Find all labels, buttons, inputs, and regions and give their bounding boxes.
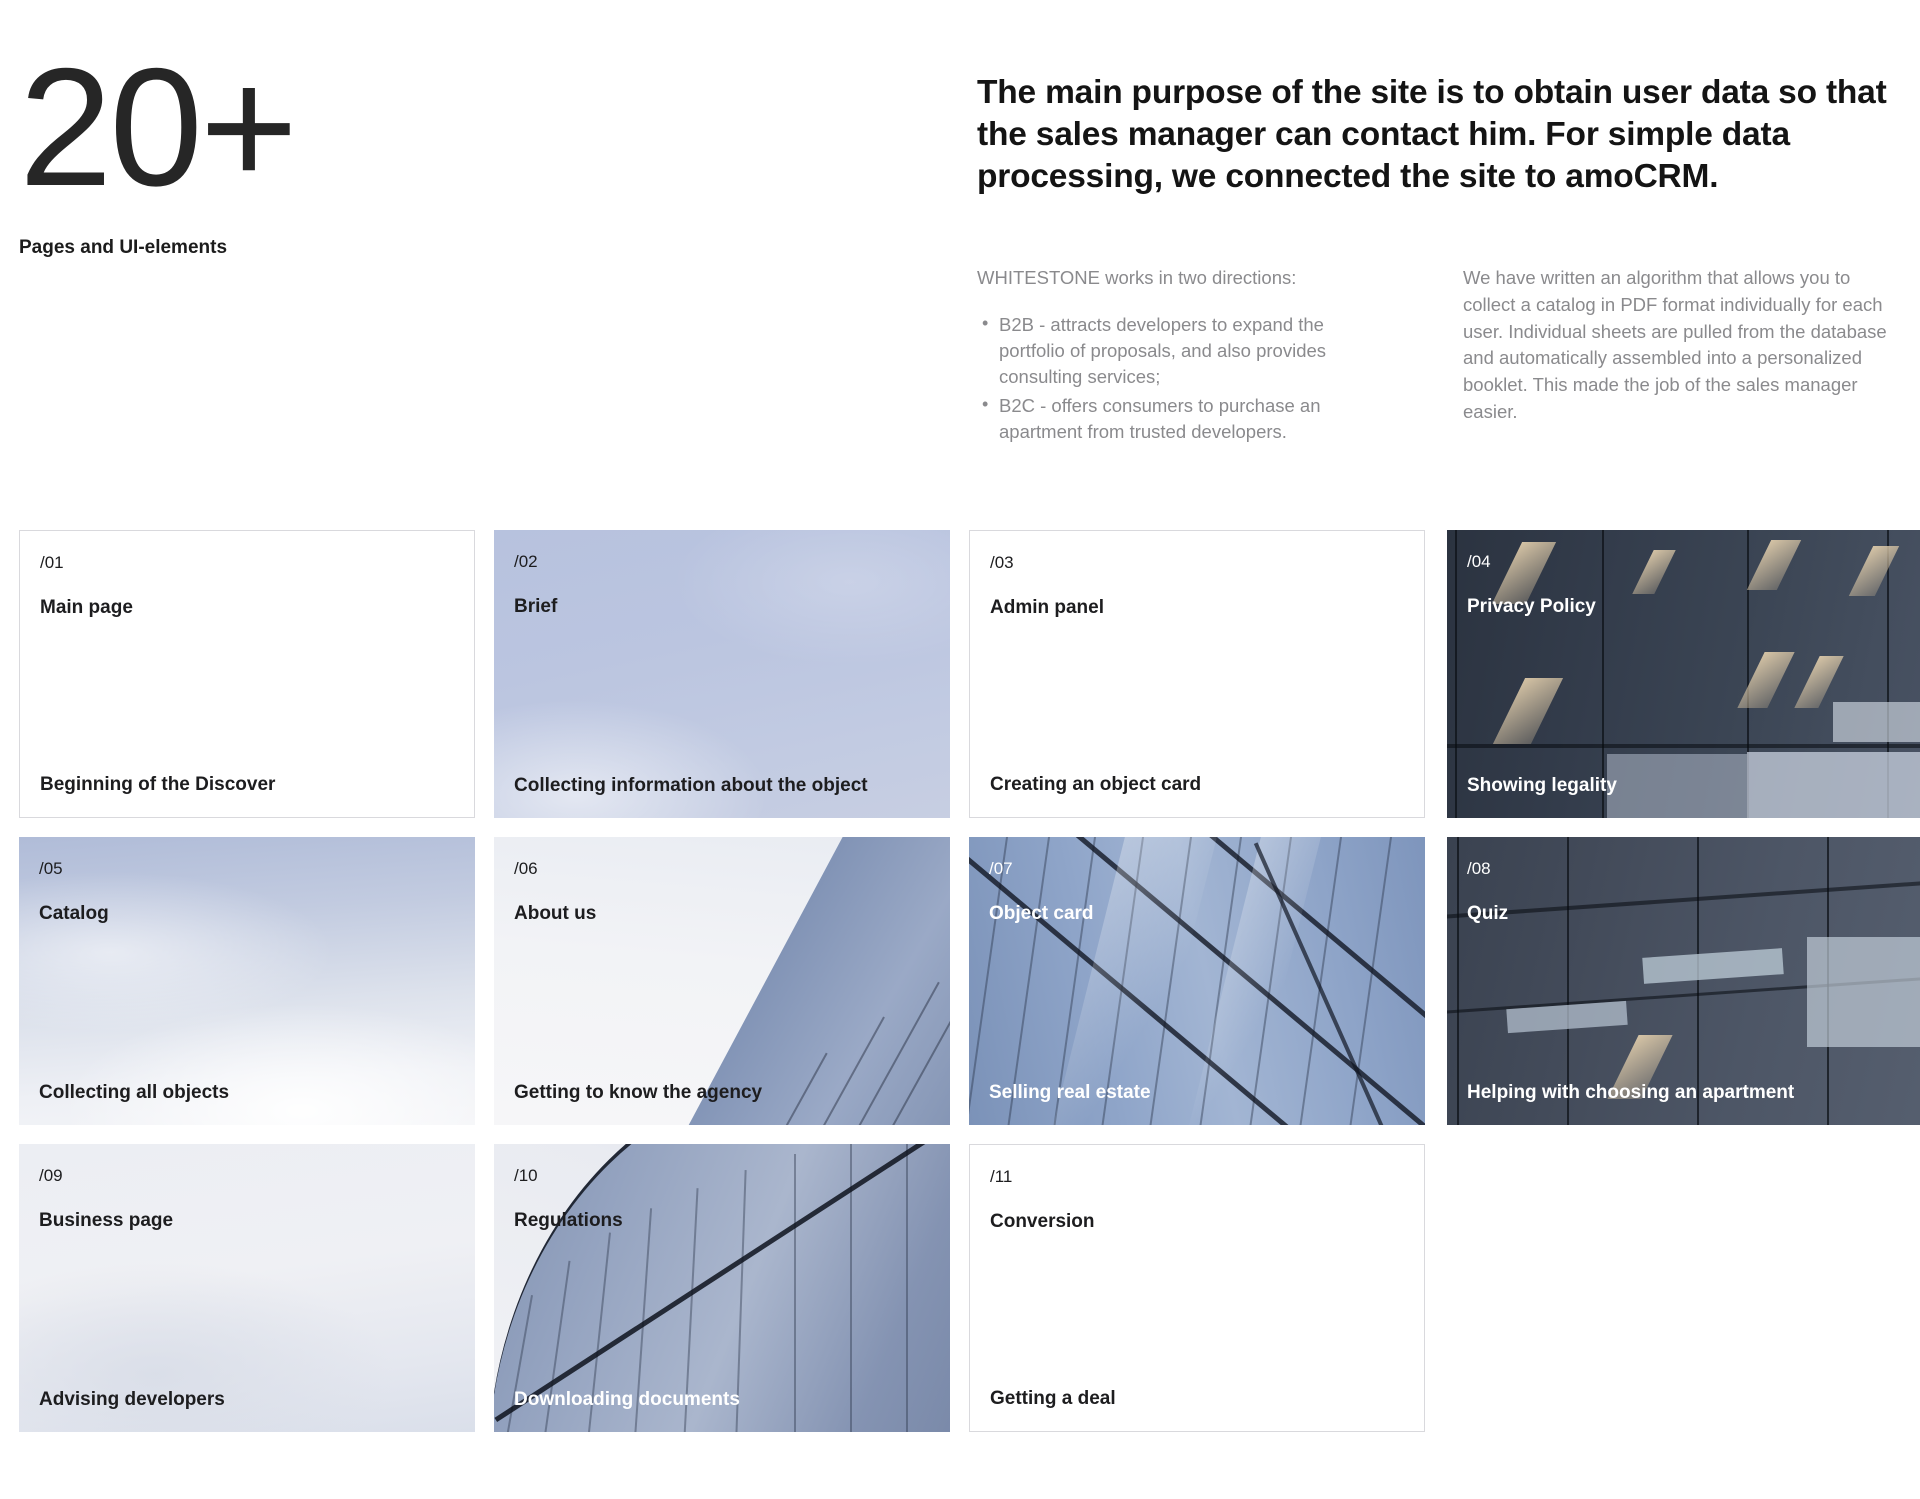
card-footer: Helping with choosing an apartment xyxy=(1467,1082,1919,1105)
intro-column-left: WHITESTONE works in two directions: B2B … xyxy=(977,265,1377,447)
page-card-06[interactable]: /06 About us Getting to know the agency xyxy=(494,837,950,1125)
directions-list: B2B - attracts developers to expand the … xyxy=(977,312,1377,445)
card-footer: Getting to know the agency xyxy=(514,1082,930,1105)
card-title: Regulations xyxy=(514,1210,930,1233)
page-card-08[interactable]: /08 Quiz Helping with choosing an apartm… xyxy=(1447,837,1920,1125)
intro-column-right: We have written an algorithm that allows… xyxy=(1463,265,1898,447)
card-footer: Collecting all objects xyxy=(39,1082,455,1105)
grid-row: /09 Business page Advising developers xyxy=(19,1144,1920,1432)
page-card-03[interactable]: /03 Admin panel Creating an object card xyxy=(969,530,1425,818)
card-number: /02 xyxy=(514,552,930,572)
list-item: B2B - attracts developers to expand the … xyxy=(999,312,1377,391)
directions-lead: WHITESTONE works in two directions: xyxy=(977,265,1377,292)
grid-row: /05 Catalog Collecting all objects /06 A… xyxy=(19,837,1920,1125)
card-number: /03 xyxy=(990,553,1404,573)
grid-row: /01 Main page Beginning of the Discover … xyxy=(19,530,1920,818)
card-title: Catalog xyxy=(39,903,455,926)
page-card-11[interactable]: /11 Conversion Getting a deal xyxy=(969,1144,1425,1432)
card-title: Conversion xyxy=(990,1211,1404,1234)
card-title: Admin panel xyxy=(990,597,1404,620)
card-title: Business page xyxy=(39,1210,455,1233)
card-number: /06 xyxy=(514,859,930,879)
page-card-01[interactable]: /01 Main page Beginning of the Discover xyxy=(19,530,475,818)
card-footer: Collecting information about the object xyxy=(514,775,930,798)
intro-section: 20+ Pages and UI-elements The main purpo… xyxy=(0,0,1920,520)
card-footer: Showing legality xyxy=(1467,775,1919,798)
stat-caption: Pages and UI-elements xyxy=(19,236,719,261)
card-number: /08 xyxy=(1467,859,1919,879)
card-number: /05 xyxy=(39,859,455,879)
page-root: 20+ Pages and UI-elements The main purpo… xyxy=(0,0,1920,1499)
card-title: Main page xyxy=(40,597,454,620)
list-item: B2C - offers consumers to purchase an ap… xyxy=(999,393,1377,446)
algorithm-paragraph: We have written an algorithm that allows… xyxy=(1463,265,1898,426)
page-card-04[interactable]: /04 Privacy Policy Showing legality xyxy=(1447,530,1920,818)
card-title: Object card xyxy=(989,903,1405,926)
card-number: /11 xyxy=(990,1167,1404,1187)
card-footer: Selling real estate xyxy=(989,1082,1405,1105)
stat-block: 20+ Pages and UI-elements xyxy=(19,48,719,260)
card-footer: Advising developers xyxy=(39,1389,455,1412)
card-footer: Beginning of the Discover xyxy=(40,774,454,797)
card-number: /10 xyxy=(514,1166,930,1186)
card-title: Brief xyxy=(514,596,930,619)
card-footer: Downloading documents xyxy=(514,1389,930,1412)
pages-grid: /01 Main page Beginning of the Discover … xyxy=(19,530,1920,1451)
card-title: Quiz xyxy=(1467,903,1919,926)
page-card-05[interactable]: /05 Catalog Collecting all objects xyxy=(19,837,475,1125)
page-card-09[interactable]: /09 Business page Advising developers xyxy=(19,1144,475,1432)
card-footer: Getting a deal xyxy=(990,1388,1404,1411)
page-card-02[interactable]: /02 Brief Collecting information about t… xyxy=(494,530,950,818)
card-title: About us xyxy=(514,903,930,926)
page-headline: The main purpose of the site is to obtai… xyxy=(977,72,1917,199)
stat-number: 20+ xyxy=(19,48,719,208)
intro-columns: WHITESTONE works in two directions: B2B … xyxy=(977,265,1920,447)
page-card-07[interactable]: /07 Object card Selling real estate xyxy=(969,837,1425,1125)
card-title: Privacy Policy xyxy=(1467,596,1919,619)
card-number: /07 xyxy=(989,859,1405,879)
card-number: /04 xyxy=(1467,552,1919,572)
page-card-10[interactable]: /10 Regulations Downloading documents xyxy=(494,1144,950,1432)
card-number: /09 xyxy=(39,1166,455,1186)
card-number: /01 xyxy=(40,553,454,573)
card-footer: Creating an object card xyxy=(990,774,1404,797)
